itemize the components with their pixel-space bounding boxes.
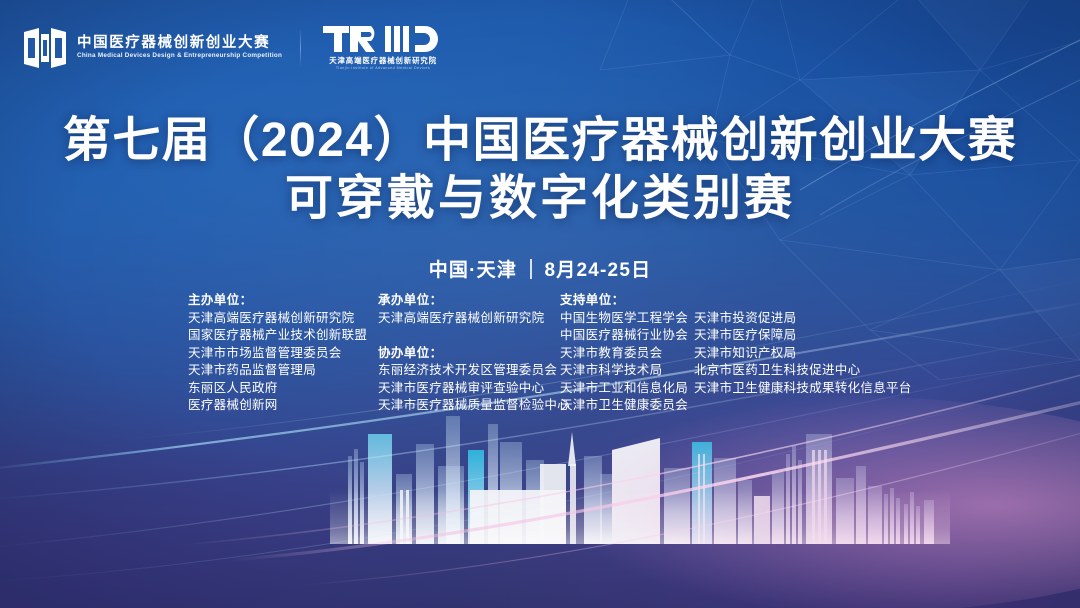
supporter-item: 北京市医药卫生科技促进中心 [694,362,909,380]
meta-separator [530,259,532,279]
city-skyline-silhouette [0,394,1080,544]
event-meta: 中国·天津 8月24-25日 [0,255,1080,282]
co-organizer-item: 东丽经济技术开发区管理委员会 [378,362,560,380]
organizer-heading: 承办单位： [378,292,560,310]
poster-title: 第七届（2024）中国医疗器械创新创业大赛 可穿戴与数字化类别赛 [0,112,1080,228]
institute-cn-name: 天津高端医疗器械创新研究院 [329,57,437,64]
host-item: 医疗器械创新网 [188,397,378,415]
supporter-item: 天津市医疗保障局 [694,327,909,345]
supporter-item: 天津市卫生健康委员会 [560,397,694,415]
organizer-list: 主办单位： 天津高端医疗器械创新研究院 国家医疗器械产业技术创新联盟 天津市市场… [188,292,909,415]
supporter-item: 天津市科学技术局 [560,362,694,380]
event-poster: 中国医疗器械创新创业大赛 China Medical Devices Desig… [0,0,1080,608]
trmd-wordmark-icon [323,24,443,54]
main-competition-logo: 中国医疗器械创新创业大赛 China Medical Devices Desig… [22,26,278,70]
event-date: 8月24-25日 [545,255,652,282]
event-location: 中国·天津 [429,255,517,282]
supporter-item: 天津市教育委员会 [560,345,694,363]
supporter-item: 天津市工业和信息化局 [560,380,694,398]
host-item: 天津市药品监督管理局 [188,362,378,380]
open-door-logo-icon [22,26,68,70]
main-logo-text: 中国医疗器械创新创业大赛 China Medical Devices Desig… [77,36,278,59]
title-line-2: 可穿戴与数字化类别赛 [0,170,1080,228]
header-logos: 中国医疗器械创新创业大赛 China Medical Devices Desig… [22,24,443,71]
host-item: 天津市市场监督管理委员会 [188,345,378,363]
co-organizer-item: 天津市医疗器械审评查验中心 [378,380,560,398]
host-heading: 主办单位： [188,292,378,310]
supporter-item: 中国生物医学工程学会 [560,310,694,328]
title-line-1: 第七届（2024）中国医疗器械创新创业大赛 [0,112,1080,170]
supporter-item: 天津市知识产权局 [694,345,909,363]
institute-en-name: Tianjin Institute of Advanced Medical De… [336,67,430,71]
host-item: 国家医疗器械产业技术创新联盟 [188,327,378,345]
supporter-item: 中国医疗器械行业协会 [560,327,694,345]
organizer-column-supporter-2: 天津市投资促进局 天津市医疗保障局 天津市知识产权局 北京市医药卫生科技促进中心… [694,292,909,415]
organizer-column-supporter: 支持单位： 中国生物医学工程学会 中国医疗器械行业协会 天津市教育委员会 天津市… [560,292,694,415]
host-item: 东丽区人民政府 [188,380,378,398]
main-logo-en-name: China Medical Devices Design & Entrepren… [77,53,282,59]
co-organizer-heading: 协办单位： [378,345,560,363]
supporter-item: 天津市投资促进局 [694,310,909,328]
organizer-column-host: 主办单位： 天津高端医疗器械创新研究院 国家医疗器械产业技术创新联盟 天津市市场… [188,292,378,415]
institute-logo: 天津高端医疗器械创新研究院 Tianjin Institute of Advan… [323,24,443,71]
co-organizer-item: 天津市医疗器械质量监督检验中心 [378,397,560,415]
organizer-column-organizer: 承办单位： 天津高端医疗器械创新研究院 协办单位： 东丽经济技术开发区管理委员会… [378,292,560,415]
main-logo-cn-name: 中国医疗器械创新创业大赛 [77,36,278,51]
supporter-item: 天津市卫生健康科技成果转化信息平台 [694,380,909,398]
supporter-heading: 支持单位： [560,292,694,310]
host-item: 天津高端医疗器械创新研究院 [188,310,378,328]
logo-divider [300,28,301,68]
organizer-item: 天津高端医疗器械创新研究院 [378,310,560,328]
column-spacer [378,327,560,345]
